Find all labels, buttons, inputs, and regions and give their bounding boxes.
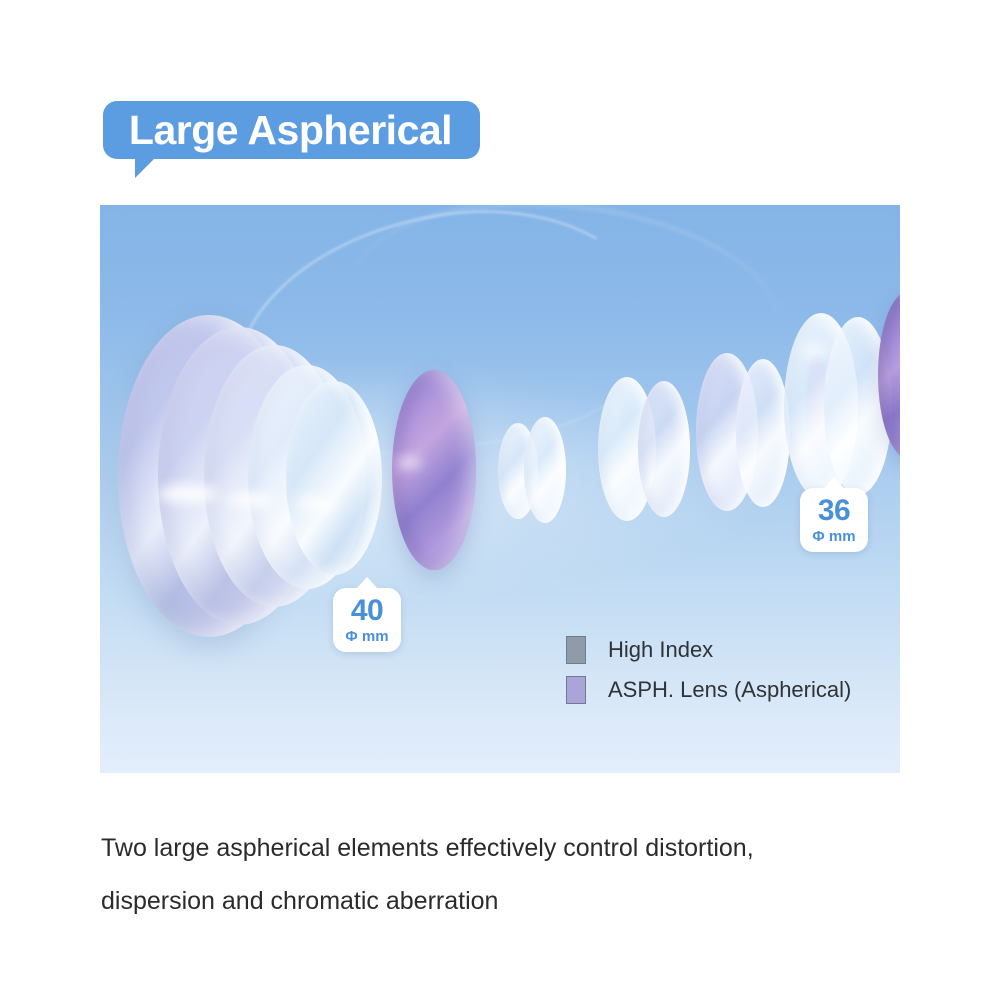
background-swoosh-decoration <box>216 205 668 477</box>
specular-highlight-2 <box>228 493 274 507</box>
diameter-callout-36mm: 36 Φ mm <box>800 488 868 552</box>
legend-item-asph-lens: ASPH. Lens (Aspherical) <box>566 670 851 710</box>
diameter-callout-36mm-value: 36 <box>818 496 850 526</box>
caption-line-1: Two large aspherical elements effectivel… <box>101 822 901 875</box>
lens-element-7-clear <box>498 423 538 519</box>
lens-element-6-aspherical-rim <box>388 368 478 573</box>
lens-element-13-clear <box>784 313 858 499</box>
background-swoosh-secondary-decoration <box>341 205 790 429</box>
lens-element-13-inner-core <box>806 353 828 457</box>
lens-stack-glow <box>120 355 820 615</box>
diameter-callout-40mm-value: 40 <box>351 596 383 626</box>
legend-swatch-asph-lens <box>566 676 586 704</box>
specular-highlight-3 <box>296 497 336 510</box>
specular-highlight-4 <box>396 457 422 468</box>
speech-bubble-tail-icon <box>135 158 155 178</box>
diameter-callout-36mm-unit: Φ mm <box>812 529 855 544</box>
legend-item-high-index: High Index <box>566 630 851 670</box>
diameter-callout-40mm-unit: Φ mm <box>345 629 388 644</box>
lens-element-14-clear <box>824 317 892 495</box>
diameter-callout-40mm: 40 Φ mm <box>333 588 401 652</box>
lens-element-11-clear <box>696 353 758 511</box>
lens-element-9-clear <box>598 377 656 521</box>
lens-element-3-high-index <box>204 345 344 607</box>
lens-element-8-clear <box>524 417 566 523</box>
legend-swatch-high-index <box>566 636 586 664</box>
legend-label-asph-lens: ASPH. Lens (Aspherical) <box>608 679 851 701</box>
specular-highlight-5 <box>800 345 830 357</box>
lens-element-4-clear <box>248 365 366 589</box>
lens-element-5-clear <box>286 381 382 575</box>
specular-highlight-1 <box>158 485 218 503</box>
lens-element-1-high-index <box>118 315 300 637</box>
lens-element-15-aspherical-36mm <box>878 291 900 459</box>
heading-badge-body: Large Aspherical <box>103 101 480 159</box>
lens-illustration-panel: 40 Φ mm 36 Φ mm High Index ASPH. Lens (A… <box>100 205 900 773</box>
heading-badge-label: Large Aspherical <box>129 110 452 151</box>
lens-element-6-aspherical-40mm <box>392 370 476 570</box>
caption-line-2: dispersion and chromatic aberration <box>101 875 901 928</box>
lens-element-2-high-index <box>158 327 320 625</box>
heading-badge: Large Aspherical <box>103 101 483 181</box>
lens-element-12-clear <box>736 359 790 507</box>
legend-label-high-index: High Index <box>608 639 713 661</box>
legend: High Index ASPH. Lens (Aspherical) <box>566 630 851 710</box>
lens-element-10-clear <box>638 381 690 517</box>
caption: Two large aspherical elements effectivel… <box>101 822 901 928</box>
